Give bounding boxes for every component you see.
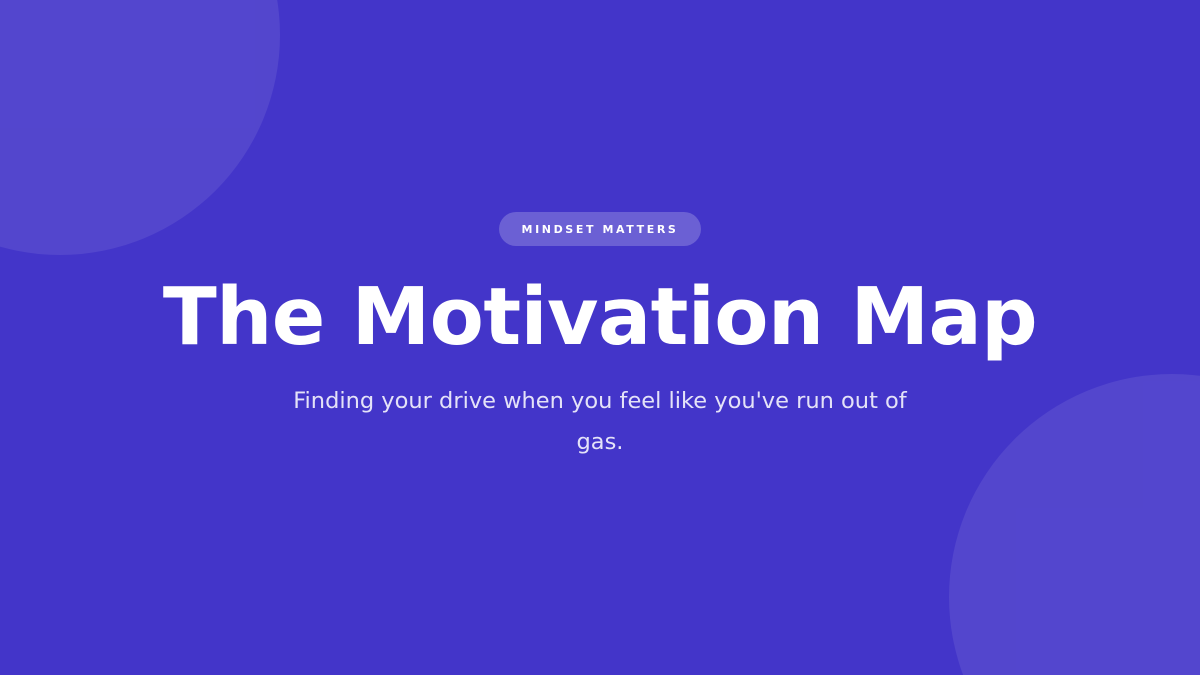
page-title: The Motivation Map [163,276,1037,358]
eyebrow-badge: MINDSET MATTERS [499,212,702,246]
slide-content: MINDSET MATTERS The Motivation Map Findi… [0,0,1200,675]
slide-subtitle: Finding your drive when you feel like yo… [288,381,912,463]
eyebrow-badge-label: MINDSET MATTERS [522,224,679,235]
title-slide: MINDSET MATTERS The Motivation Map Findi… [0,0,1200,675]
